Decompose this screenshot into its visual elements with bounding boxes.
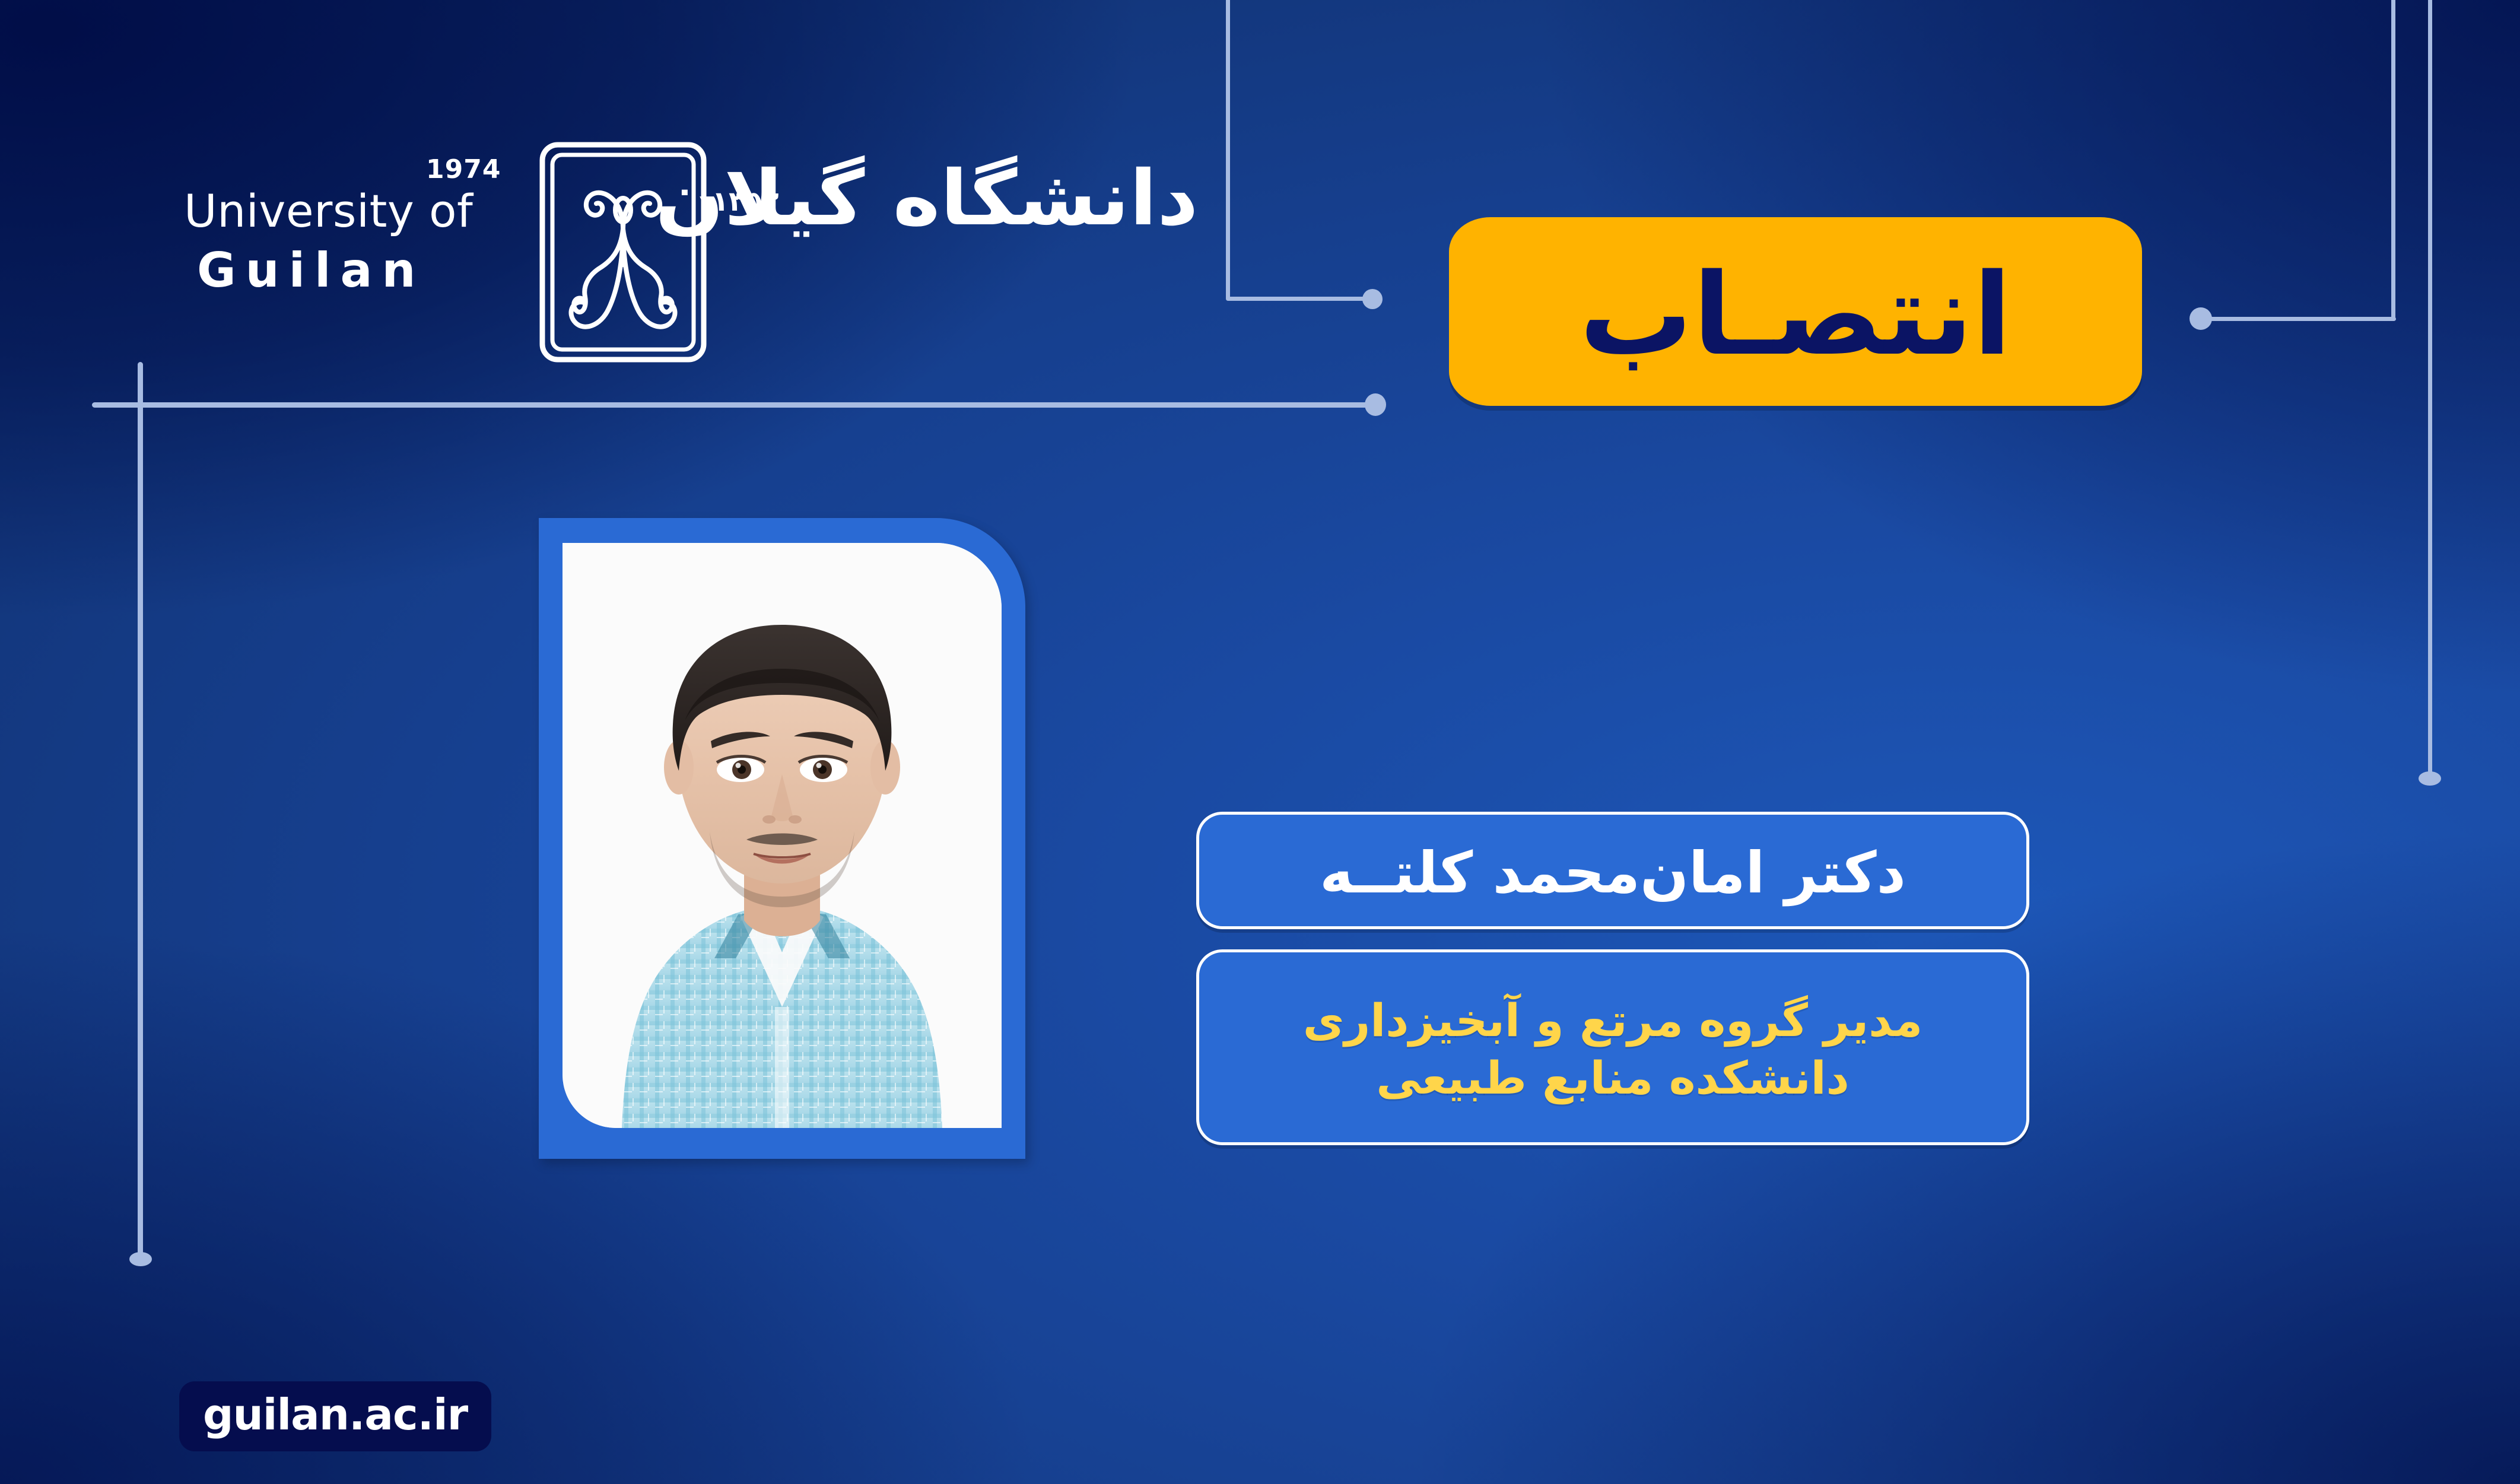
decor-dot-left-rail <box>129 1252 152 1266</box>
headline-label: انتصـاب <box>1580 259 2011 371</box>
person-role-line-2: دانشکده منابع طبیعی <box>1376 1049 1849 1107</box>
decor-dot-under-logo <box>1365 393 1386 416</box>
decor-dot-right-corner <box>2189 307 2212 330</box>
logo-persian-name: دانشگاه گیلان <box>656 154 1199 243</box>
decor-line-top-center-vertical <box>1226 0 1230 300</box>
person-name: دکتر امان‌محمد کلتــه <box>1320 844 1906 901</box>
logo-guilan-word: Guilan <box>184 247 473 294</box>
person-role-line-1: مدیر گروه مرتع و آبخیزداری <box>1303 992 1922 1049</box>
website-url-badge[interactable]: guilan.ac.ir <box>179 1381 491 1451</box>
person-name-plate: دکتر امان‌محمد کلتــه <box>1196 812 2029 929</box>
logo-english-name: University of Guilan <box>184 189 473 294</box>
decor-dot-top-center <box>1362 289 1383 309</box>
decor-line-left-rail <box>138 362 143 1261</box>
logo-year-gregorian: 1974 <box>426 154 501 185</box>
headline-badge: انتصـاب <box>1449 217 2142 406</box>
banner-canvas: University of Guilan 1974 ۱۳۵۳ دانشگاه گ… <box>0 0 2520 1484</box>
portrait-frame <box>539 518 1025 1159</box>
university-logo: University of Guilan 1974 ۱۳۵۳ دانشگاه گ… <box>178 136 1193 374</box>
decor-line-far-right-rail <box>2428 0 2432 778</box>
website-url-label: guilan.ac.ir <box>203 1393 468 1436</box>
portrait-photo <box>563 543 1002 1128</box>
person-role-plate: مدیر گروه مرتع و آبخیزداری دانشکده منابع… <box>1196 949 2029 1145</box>
logo-university-word: University of <box>184 189 473 234</box>
decor-line-right-vertical <box>2391 0 2395 320</box>
decor-dot-far-right-rail <box>2419 771 2441 786</box>
decor-line-right-horizontal <box>2206 317 2396 321</box>
decor-line-top-center-horizontal <box>1226 297 1373 301</box>
decor-line-under-logo <box>92 402 1385 408</box>
